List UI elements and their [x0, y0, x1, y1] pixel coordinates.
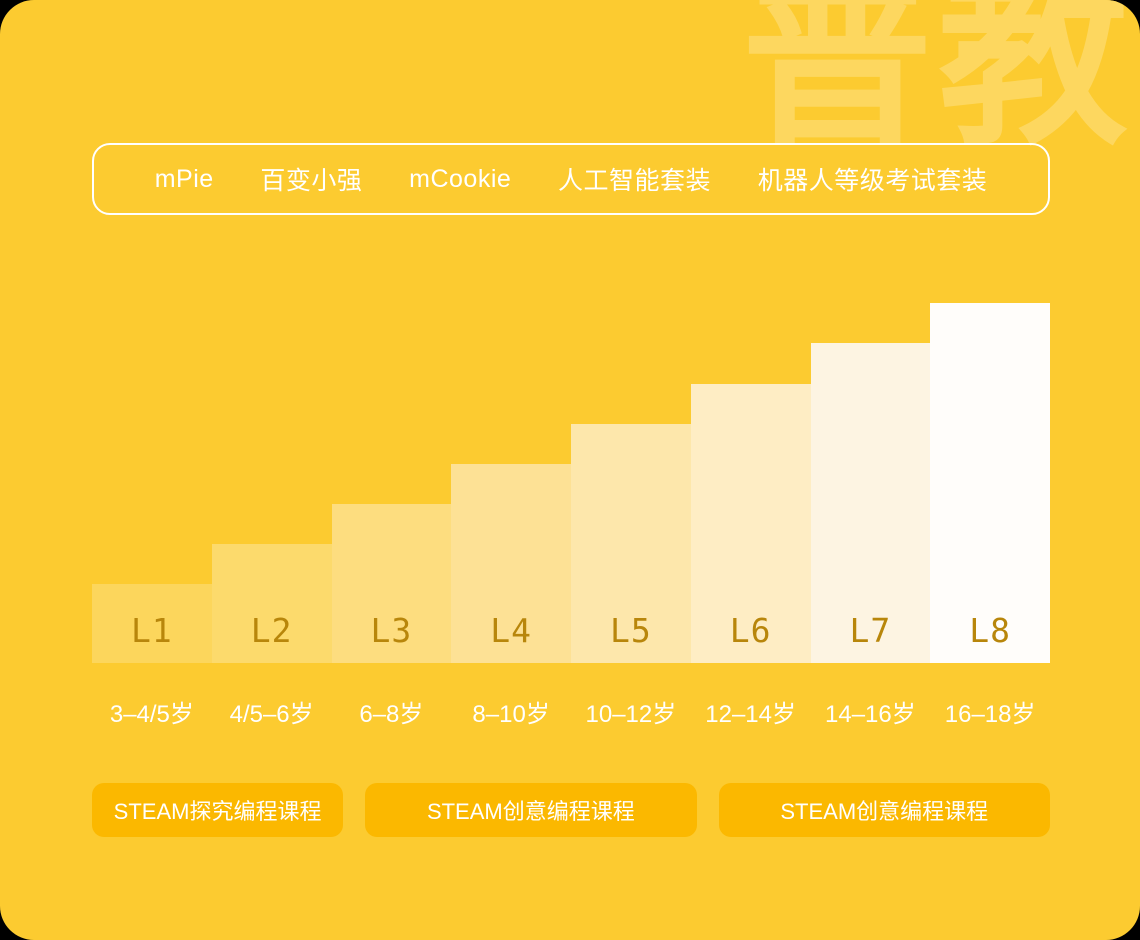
age-label-l2: 4/5–6岁: [212, 694, 332, 729]
nav-item-mcookie[interactable]: mCookie: [409, 165, 511, 194]
level-bar-chart: L1 L2 L3 L4 L5 L6 L7 L8: [92, 295, 1050, 663]
course-level-card: 普教 mPie 百变小强 mCookie 人工智能套装 机器人等级考试套装 L1…: [0, 0, 1140, 940]
bar-l2: L2: [212, 544, 332, 663]
nav-item-baibianxiaoqiang[interactable]: 百变小强: [260, 161, 362, 197]
nav-item-robot-exam-kit[interactable]: 机器人等级考试套装: [758, 161, 988, 197]
age-label-l7: 14–16岁: [811, 694, 931, 729]
bar-l7: L7: [811, 343, 931, 663]
bar-label-l1: L1: [131, 614, 173, 647]
bar-label-l5: L5: [610, 614, 652, 647]
age-range-axis: 3–4/5岁 4/5–6岁 6–8岁 8–10岁 10–12岁 12–14岁 1…: [92, 694, 1050, 729]
bar-l3: L3: [332, 504, 452, 663]
bar-label-l4: L4: [490, 614, 532, 647]
watermark-text: 普教: [742, 0, 1134, 156]
course-button-explore[interactable]: STEAM探究编程课程: [92, 783, 343, 837]
course-button-creative-1[interactable]: STEAM创意编程课程: [365, 783, 696, 837]
age-label-l8: 16–18岁: [930, 694, 1050, 729]
product-nav-bar: mPie 百变小强 mCookie 人工智能套装 机器人等级考试套装: [92, 143, 1050, 215]
bar-l6: L6: [691, 384, 811, 663]
bar-l5: L5: [571, 424, 691, 663]
course-group-row: STEAM探究编程课程 STEAM创意编程课程 STEAM创意编程课程: [92, 783, 1050, 837]
age-label-l6: 12–14岁: [691, 694, 811, 729]
nav-item-mpie[interactable]: mPie: [155, 165, 214, 194]
age-label-l1: 3–4/5岁: [92, 694, 212, 729]
bar-l8: L8: [930, 303, 1050, 663]
bar-label-l7: L7: [850, 614, 892, 647]
nav-item-ai-kit[interactable]: 人工智能套装: [558, 161, 711, 197]
course-button-creative-2[interactable]: STEAM创意编程课程: [719, 783, 1050, 837]
age-label-l5: 10–12岁: [571, 694, 691, 729]
bar-label-l8: L8: [969, 614, 1011, 647]
bar-l4: L4: [451, 464, 571, 663]
bar-label-l6: L6: [730, 614, 772, 647]
bar-label-l3: L3: [371, 614, 413, 647]
age-label-l4: 8–10岁: [451, 694, 571, 729]
bar-label-l2: L2: [251, 614, 293, 647]
bar-l1: L1: [92, 584, 212, 663]
age-label-l3: 6–8岁: [332, 694, 452, 729]
